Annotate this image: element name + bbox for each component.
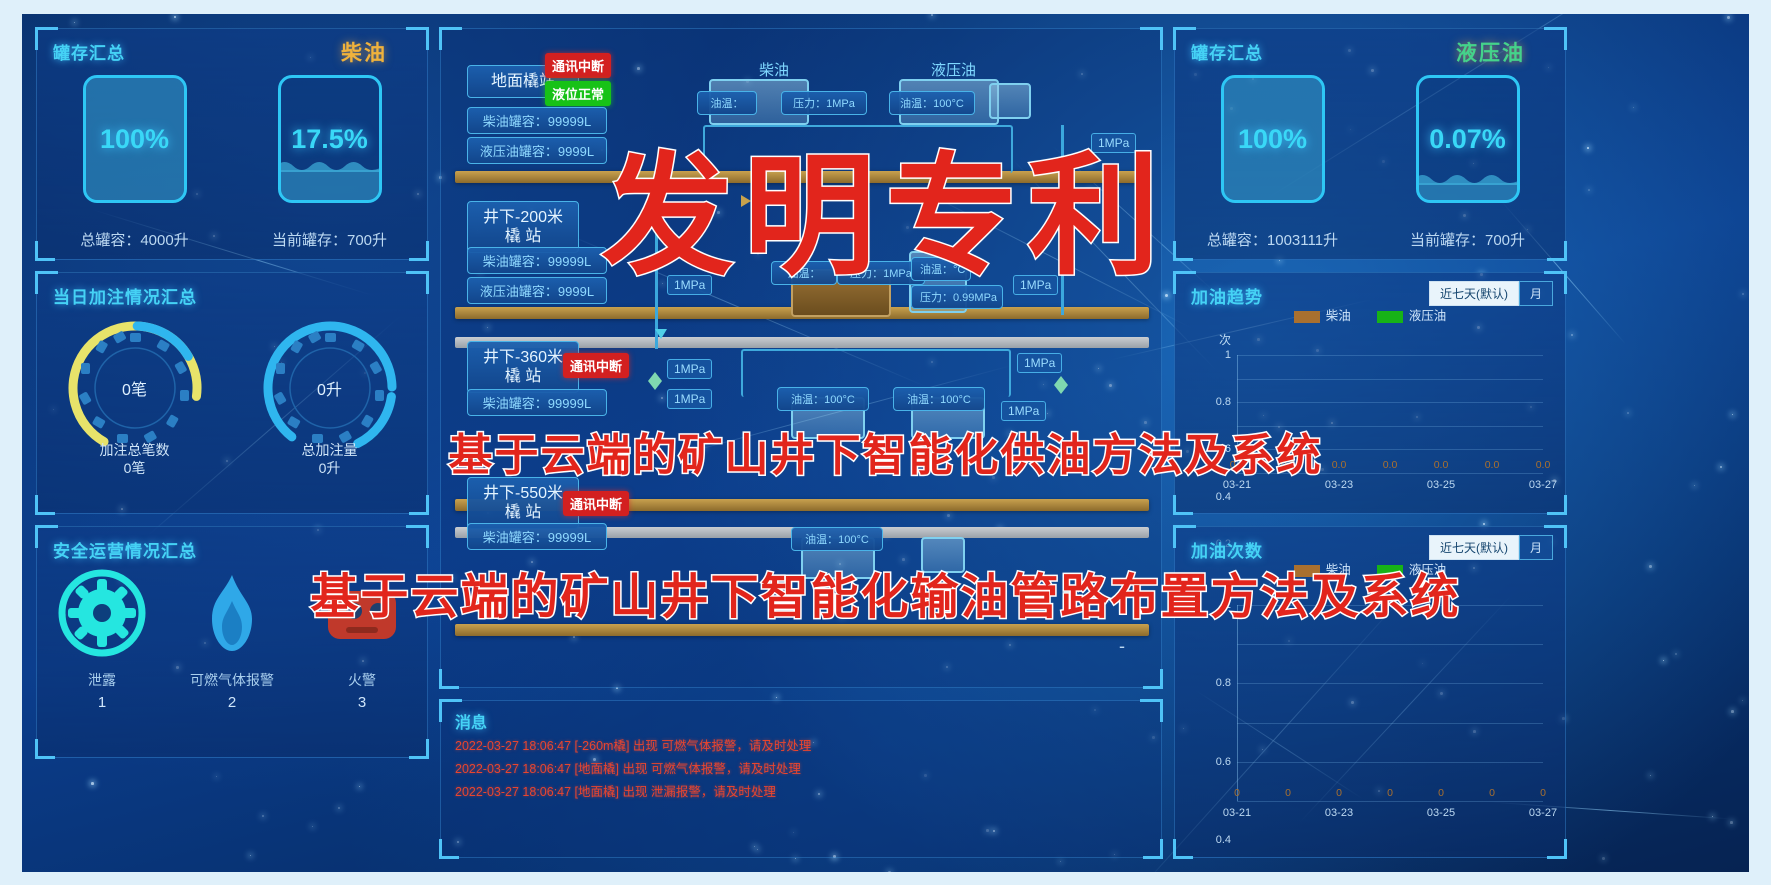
safety-item-gas-alarm[interactable]: 可燃气体报警 2: [172, 567, 292, 711]
tab-month[interactable]: 月: [1519, 535, 1553, 560]
legend-swatch-diesel: [1294, 311, 1320, 323]
tank-card: 17.5%: [270, 75, 390, 225]
station-chip-diesel: 柴油罐容：99999L: [467, 247, 607, 274]
pressure-tag: 1MPa: [667, 359, 712, 379]
panel-subject-diesel: 柴油: [341, 37, 387, 67]
tank-capacity-total: 总罐容：4000升: [40, 229, 230, 250]
dashboard-screen: 罐存汇总 柴油 100% 17.5% 总罐容：4000升: [22, 14, 1749, 872]
x-axis-tick: 03-25: [1427, 479, 1455, 491]
tank-cards: 100% 17.5%: [37, 75, 427, 225]
panel-title: 当日加注情况汇总: [53, 283, 197, 308]
y-axis-tick: 0.6: [1216, 756, 1231, 768]
data-point-label: 0: [1285, 787, 1291, 799]
data-point-label: 0: [1387, 787, 1393, 799]
safety-value: 3: [302, 694, 422, 711]
x-axis-tick: 03-27: [1529, 807, 1557, 819]
y-axis-tick: 0.8: [1216, 396, 1231, 408]
gauge-sublabel-volume: 0升: [245, 459, 415, 477]
tank-captions: 总罐容：1003111升 当前罐存：700升: [1175, 229, 1565, 250]
tank-capacity-current: 当前罐存：700升: [1373, 229, 1563, 250]
flow-arrow-icon: [655, 329, 667, 339]
pipe-loop-360m: [741, 349, 1011, 397]
gridline: 0: [1237, 801, 1543, 802]
safety-label: 泄露: [42, 670, 162, 690]
watermark-sub-2: 基于云端的矿山井下智能化输油管路布置方法及系统: [310, 557, 1460, 627]
status-badge-comm: 通讯中断: [563, 491, 629, 516]
x-axis-tick: 03-21: [1223, 807, 1251, 819]
gridline: 0.8: [1237, 644, 1543, 645]
y-axis-label: 次: [1219, 331, 1231, 348]
status-badge-comm: 通讯中断: [563, 353, 629, 378]
x-axis-tick: 03-25: [1427, 807, 1455, 819]
tank-percent: 0.07%: [1419, 78, 1517, 200]
data-point-label: 0.0: [1434, 459, 1449, 471]
legend-label-diesel: 柴油: [1326, 309, 1351, 323]
panel-tank-summary-hydraulic: 罐存汇总 液压油 100% 0.07% 总罐容：1003111升: [1174, 28, 1566, 260]
panel-title: 罐存汇总: [1191, 39, 1263, 64]
tank-capacity-current: 当前罐存：700升: [235, 229, 425, 250]
tank-cards: 100% 0.07%: [1175, 75, 1565, 225]
data-point-label: 0.0: [1485, 459, 1500, 471]
message-item[interactable]: 2022-03-27 18:06:47 [地面橇] 出现 泄漏报警，请及时处理: [455, 781, 811, 804]
gridline: 0.2: [1237, 762, 1543, 763]
pressure-tag: 1MPa: [667, 389, 712, 409]
gauge-label-volume: 总加注量: [245, 441, 415, 459]
tank-gauge: 100%: [1221, 75, 1325, 203]
tank-card: 0.07%: [1408, 75, 1528, 225]
legend-item-hydraulic: 液压油: [1377, 305, 1447, 324]
data-point-label: 0: [1489, 787, 1495, 799]
gridline: 0.4: [1237, 723, 1543, 724]
messages-list[interactable]: 2022-03-27 18:06:47 [-260m橇] 出现 可燃气体报警，请…: [455, 735, 811, 804]
gauge-sublabel-count: 0笔: [50, 459, 220, 477]
pressure-tag: 1MPa: [1017, 353, 1062, 373]
messages-title: 消息: [455, 709, 487, 733]
y-axis-tick: 0.8: [1216, 677, 1231, 689]
tank-percent: 100%: [86, 78, 184, 200]
tank-gauge: 17.5%: [278, 75, 382, 203]
tank-percent: 17.5%: [281, 78, 379, 200]
data-point-label: 0.0: [1332, 459, 1347, 471]
station-chip-diesel: 柴油罐容：99999L: [467, 107, 607, 134]
message-item[interactable]: 2022-03-27 18:06:47 [-260m橇] 出现 可燃气体报警，请…: [455, 735, 811, 758]
pressure-tag: 1MPa: [1001, 401, 1046, 421]
leak-gear-icon: [56, 567, 148, 659]
station-chip-diesel: 柴油罐容：99999L: [467, 523, 607, 550]
trend-range-tabs[interactable]: 近七天(默认) 月: [1429, 281, 1553, 306]
panel-title: 罐存汇总: [53, 39, 125, 64]
zoom-out-button[interactable]: -: [1119, 636, 1125, 657]
tank-percent: 100%: [1224, 78, 1322, 200]
fluid-label-hydraulic: 液压油: [931, 59, 976, 80]
data-point-label: 0: [1540, 787, 1546, 799]
safety-label: 火警: [302, 670, 422, 690]
legend-swatch-hydraulic: [1377, 311, 1403, 323]
page-root: 罐存汇总 柴油 100% 17.5% 总罐容：4000升: [0, 0, 1771, 885]
x-axis-tick: 03-23: [1325, 479, 1353, 491]
tank-card: 100%: [1213, 75, 1333, 225]
y-axis-tick: 1: [1225, 349, 1231, 361]
station-chip-hydraulic: 液压油罐容：9999L: [467, 137, 607, 164]
safety-value: 2: [172, 694, 292, 711]
panel-daily-refuel: 当日加注情况汇总: [36, 272, 428, 514]
tank-capacity-total: 总罐容：1003111升: [1178, 229, 1368, 250]
fluid-label-diesel: 柴油: [759, 59, 789, 80]
watermark-main: 发明专利: [602, 110, 1170, 301]
flame-icon: [186, 567, 278, 659]
safety-item-leak[interactable]: 泄露 1: [42, 567, 162, 711]
gridline: 0.6: [1237, 683, 1543, 684]
safety-value: 1: [42, 694, 162, 711]
data-point-label: 0.0: [1383, 459, 1398, 471]
tank-card: 100%: [75, 75, 195, 225]
y-axis-line: [1237, 605, 1238, 801]
station-chip-diesel: 柴油罐容：99999L: [467, 389, 607, 416]
tank-captions: 总罐容：4000升 当前罐存：700升: [37, 229, 427, 250]
tank-gauge: 100%: [83, 75, 187, 203]
data-point-label: 0: [1336, 787, 1342, 799]
message-item[interactable]: 2022-03-27 18:06:47 [地面橇] 出现 可燃气体报警，请及时处…: [455, 758, 811, 781]
gridline: 0.8: [1237, 379, 1543, 380]
tab-month[interactable]: 月: [1519, 281, 1553, 306]
panel-tank-summary-diesel: 罐存汇总 柴油 100% 17.5% 总罐容：4000升: [36, 28, 428, 260]
legend-label-hydraulic: 液压油: [1409, 309, 1447, 323]
y-axis-tick: 0.4: [1216, 834, 1231, 846]
gridline: 1: [1237, 355, 1543, 356]
watermark-sub-1: 基于云端的矿山井下智能化供油方法及系统: [449, 419, 1323, 483]
station-label-200m[interactable]: 井下-200米橇 站: [467, 201, 579, 253]
count-plot-area: 00.20.40.60.81000000003-2103-2303-2503-2…: [1237, 605, 1543, 801]
data-point-label: 0: [1234, 787, 1240, 799]
trend-legend: 柴油 液压油: [1175, 305, 1565, 324]
status-badge-level: 液位正常: [545, 81, 611, 106]
panel-title: 安全运营情况汇总: [53, 537, 197, 562]
y-axis-tick: 0.4: [1216, 491, 1231, 503]
legend-item-diesel: 柴油: [1294, 305, 1351, 324]
data-point-label: 0: [1438, 787, 1444, 799]
gauge-label-count: 加注总笔数: [50, 441, 220, 459]
status-badge-comm: 通讯中断: [545, 53, 611, 78]
tank-gauge: 0.07%: [1416, 75, 1520, 203]
x-axis-tick: 03-27: [1529, 479, 1557, 491]
sensor-oil-temp: 油温：100°C: [791, 527, 883, 551]
x-axis-tick: 03-23: [1325, 807, 1353, 819]
data-point-label: 0.0: [1536, 459, 1551, 471]
station-chip-hydraulic: 液压油罐容：9999L: [467, 277, 607, 304]
gridline: 0.6: [1237, 402, 1543, 403]
panel-subject-hydraulic: 液压油: [1456, 37, 1525, 67]
safety-label: 可燃气体报警: [172, 670, 292, 690]
panel-messages: 消息 2022-03-27 18:06:47 [-260m橇] 出现 可燃气体报…: [440, 700, 1162, 858]
tab-seven-days[interactable]: 近七天(默认): [1429, 281, 1519, 306]
gauge-labels: 加注总笔数 0笔 总加注量 0升: [37, 441, 427, 477]
